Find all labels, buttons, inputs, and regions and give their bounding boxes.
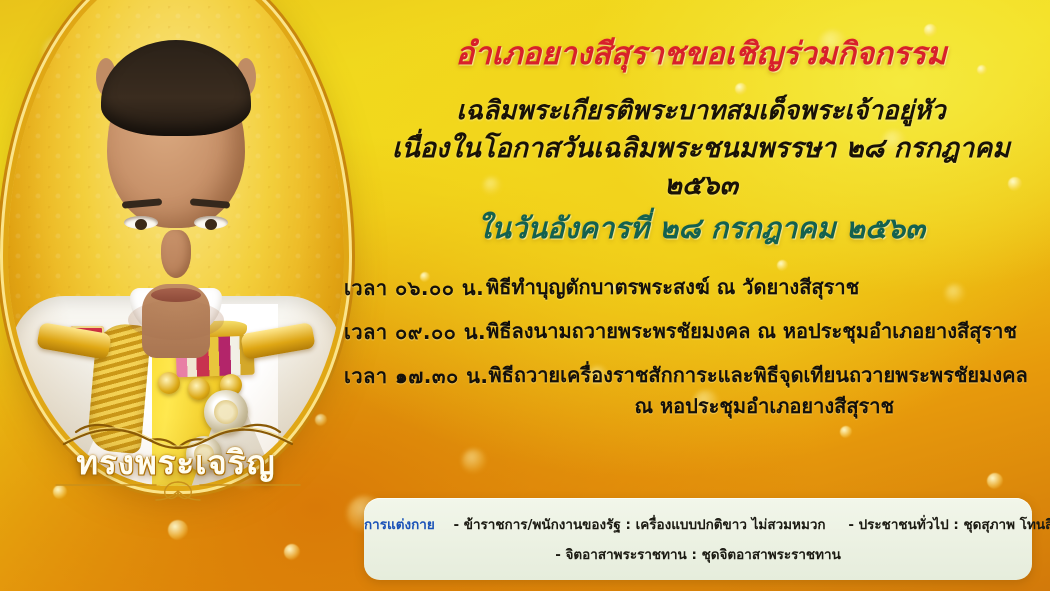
schedule-description-continued: ณ หอประชุมอำเภอยางสีสุราช [488,391,1044,422]
schedule-description: พิธีลงนามถวายพระพรชัยมงคล ณ หอประชุมอำเภ… [486,316,1044,347]
gold-medal-icon [188,378,210,400]
dress-code-public: - ประชาชนทั่วไป : ชุดสุภาพ โทนสีเหลือง [848,517,1050,533]
dress-code-row-1: การแต่งกาย - ข้าราชการ/พนักงานของรัฐ : เ… [364,513,1032,535]
hair [101,40,251,136]
gold-medal-icon [158,372,180,394]
eye-left [124,216,158,229]
schedule-time: เวลา ๑๗.๓๐ น. [344,360,488,392]
royal-portrait-panel: ทรงพระเจริญ [0,0,352,591]
event-date-line: ในวันอังคารที่ ๒๘ กรกฎาคม ๒๕๖๓ [352,205,1050,251]
dress-code-panel: การแต่งกาย - ข้าราชการ/พนักงานของรัฐ : เ… [364,498,1032,580]
schedule-time: เวลา ๐๖.๐๐ น. [344,272,486,304]
dress-code-row-2: - จิตอาสาพระราชทาน : ชุดจิตอาสาพระราชทาน [364,543,1032,565]
schedule-description-main: พิธีถวายเครื่องราชสักการะและพิธีจุดเทียน… [488,363,1027,387]
portrait-oval-frame [8,0,344,486]
subtitle-line-2: เนื่องในโอกาสวันเฉลิมพระชนมพรรษา ๒๘ กรกฎ… [352,130,1050,205]
subtitle-line-1: เฉลิมพระเกียรติพระบาทสมเด็จพระเจ้าอยู่หั… [352,94,1050,130]
schedule-description: พิธีทำบุญตักบาตรพระสงฆ์ ณ วัดยางสีสุราช [486,272,1044,303]
subtitle-block: เฉลิมพระเกียรติพระบาทสมเด็จพระเจ้าอยู่หั… [352,94,1050,204]
schedule-description: พิธีถวายเครื่องราชสักการะและพิธีจุดเทียน… [488,360,1044,422]
schedule-description-main: พิธีลงนามถวายพระพรชัยมงคล ณ หอประชุมอำเภ… [486,319,1017,343]
dress-code-volunteers: - จิตอาสาพระราชทาน : ชุดจิตอาสาพระราชทาน [555,547,841,563]
dress-code-label: การแต่งกาย [364,517,435,533]
gold-flourish-bottom-icon [52,478,304,504]
poster-root: ทรงพระเจริญ อำเภอยางสีสุราชขอเชิญร่วมกิจ… [0,0,1050,591]
eyebrow-right [190,198,230,208]
royal-order-star-icon [204,390,248,434]
dress-code-officials: - ข้าราชการ/พนักงานของรัฐ : เครื่องแบบปก… [453,517,825,533]
eyebrow-left [122,198,162,208]
schedule-row: เวลา ๑๗.๓๐ น. พิธีถวายเครื่องราชสักการะแ… [344,360,1044,422]
schedule-row: เวลา ๐๖.๐๐ น. พิธีทำบุญตักบาตรพระสงฆ์ ณ … [344,272,1044,304]
schedule-time: เวลา ๐๙.๐๐ น. [344,316,486,348]
schedule-list: เวลา ๐๖.๐๐ น. พิธีทำบุญตักบาตรพระสงฆ์ ณ … [344,272,1044,434]
eye-right [194,216,228,229]
schedule-row: เวลา ๐๙.๐๐ น. พิธีลงนามถวายพระพรชัยมงคล … [344,316,1044,348]
royal-portrait-figure [8,0,344,486]
chin-shading [128,300,224,340]
nose [161,230,191,278]
schedule-description-main: พิธีทำบุญตักบาตรพระสงฆ์ ณ วัดยางสีสุราช [486,275,859,299]
page-title: อำเภอยางสีสุราชขอเชิญร่วมกิจกรรม [352,28,1050,78]
